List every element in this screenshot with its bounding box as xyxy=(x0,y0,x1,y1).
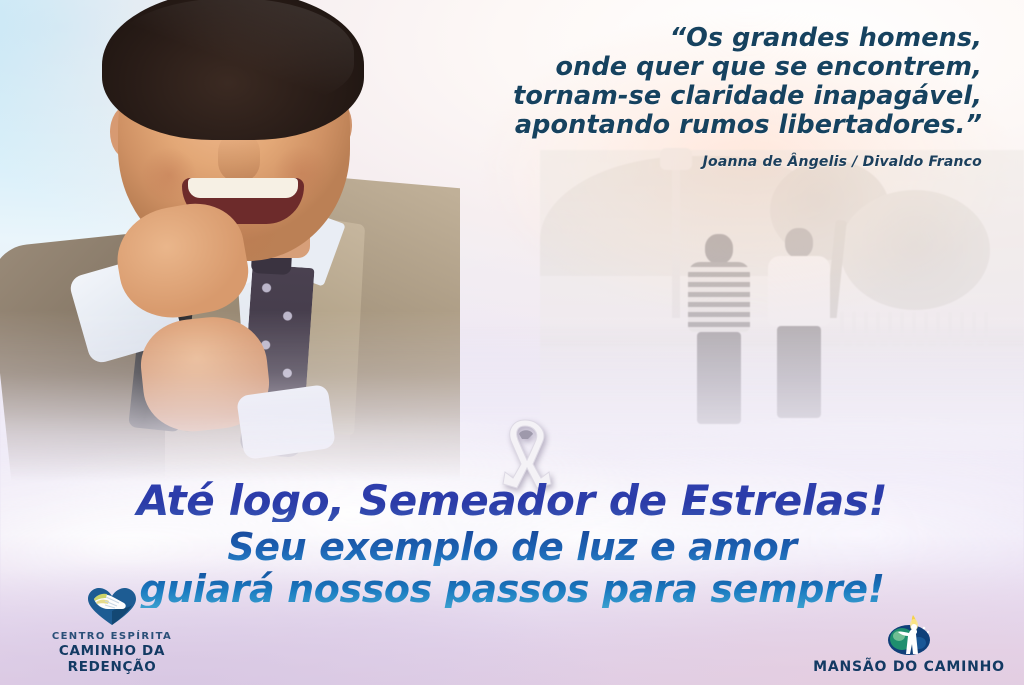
quote-line-1: “Os grandes homens, xyxy=(342,24,982,53)
logo-line-2: CAMINHO DA REDENÇÃO xyxy=(12,643,212,675)
logo-line-1: CENTRO ESPÍRITA xyxy=(12,630,212,643)
logo-line-2: MANSÃO DO CAMINHO xyxy=(804,659,1014,675)
quote-line-2: onde quer que se encontrem, xyxy=(342,53,982,82)
quote-line-4: apontando rumos libertadores.” xyxy=(342,111,982,140)
globe-figure-icon xyxy=(804,616,1014,656)
headline-line-1: Até logo, Semeador de Estrelas! xyxy=(0,480,1024,522)
quote-attribution: Joanna de Ângelis / Divaldo Franco xyxy=(342,154,982,170)
quote-line-3: tornam-se claridade inapagável, xyxy=(342,82,982,111)
quote-block: “Os grandes homens, onde quer que se enc… xyxy=(342,24,982,170)
memorial-poster: “Os grandes homens, onde quer que se enc… xyxy=(0,0,1024,685)
heart-hands-icon xyxy=(12,587,212,627)
logo-mansao-do-caminho: MANSÃO DO CAMINHO xyxy=(804,616,1014,675)
headline-line-2: Seu exemplo de luz e amor xyxy=(0,528,1024,566)
logo-centro-espirita: CENTRO ESPÍRITA CAMINHO DA REDENÇÃO xyxy=(12,587,212,675)
